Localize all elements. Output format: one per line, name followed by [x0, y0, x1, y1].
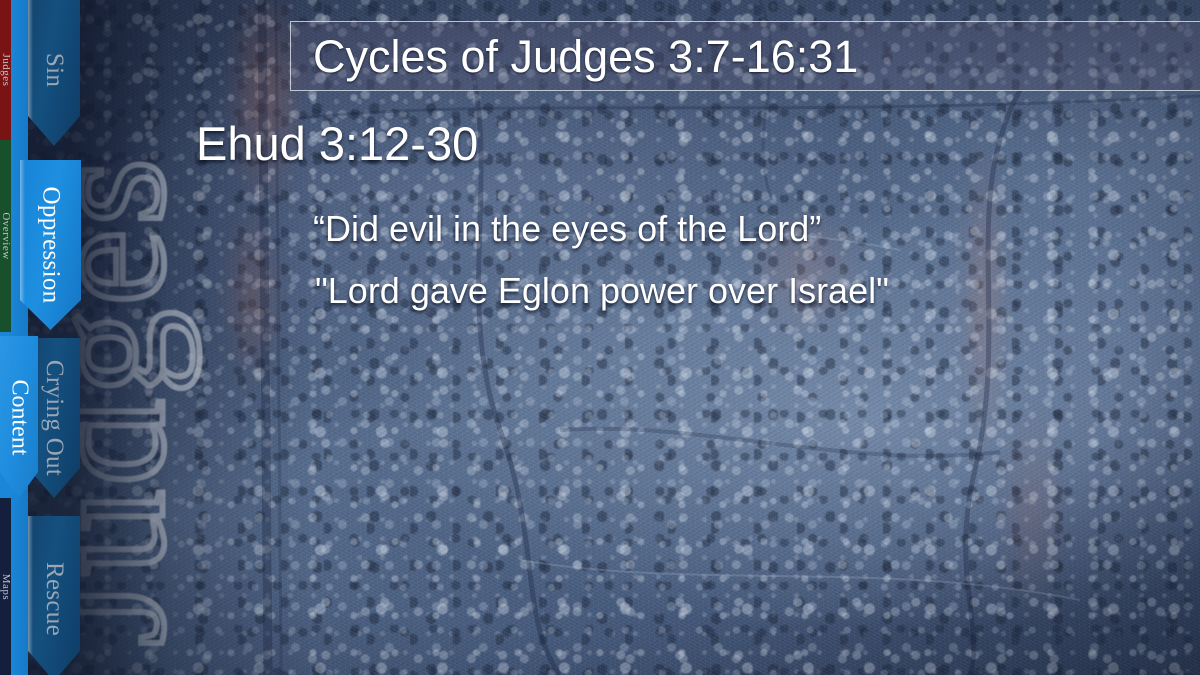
- edge-nav-label: Maps: [0, 573, 11, 599]
- tab-label: Crying Out: [40, 360, 68, 476]
- tab-oppression[interactable]: Oppression: [20, 160, 81, 330]
- edge-nav-label: Overview: [0, 212, 11, 259]
- tab-label: Content: [6, 379, 33, 455]
- background-vignette: [0, 0, 1200, 675]
- tab-content[interactable]: Content: [0, 336, 38, 498]
- tab-highlight-edge: [28, 0, 33, 146]
- slide-title: Cycles of Judges 3:7-16:31: [291, 34, 858, 79]
- tab-sin[interactable]: Sin: [28, 0, 80, 146]
- edge-nav-label: Judges: [0, 54, 11, 87]
- tab-label: Oppression: [37, 187, 65, 304]
- tab-highlight-edge: [20, 160, 25, 330]
- slide-title-box: Cycles of Judges 3:7-16:31: [290, 21, 1200, 91]
- edge-nav-segment-overview[interactable]: Overview: [0, 140, 11, 332]
- tab-highlight-edge: [28, 516, 33, 675]
- cycle-tab-rail: Sin Oppression Crying Out Rescue Content: [11, 0, 97, 675]
- edge-nav-segment-judges[interactable]: Judges: [0, 0, 11, 140]
- slide-subtitle: Ehud 3:12-30: [196, 120, 478, 167]
- tab-label: Rescue: [40, 562, 68, 636]
- edge-nav-segment-maps[interactable]: Maps: [0, 498, 11, 675]
- bullet-line-2: "Lord gave Eglon power over Israel": [315, 273, 889, 309]
- bullet-line-1: “Did evil in the eyes of the Lord”: [313, 211, 821, 247]
- tab-rescue[interactable]: Rescue: [28, 516, 80, 675]
- tab-label: Sin: [40, 53, 68, 87]
- presentation-slide: Judges Judges Overview Content Maps Sin: [0, 0, 1200, 675]
